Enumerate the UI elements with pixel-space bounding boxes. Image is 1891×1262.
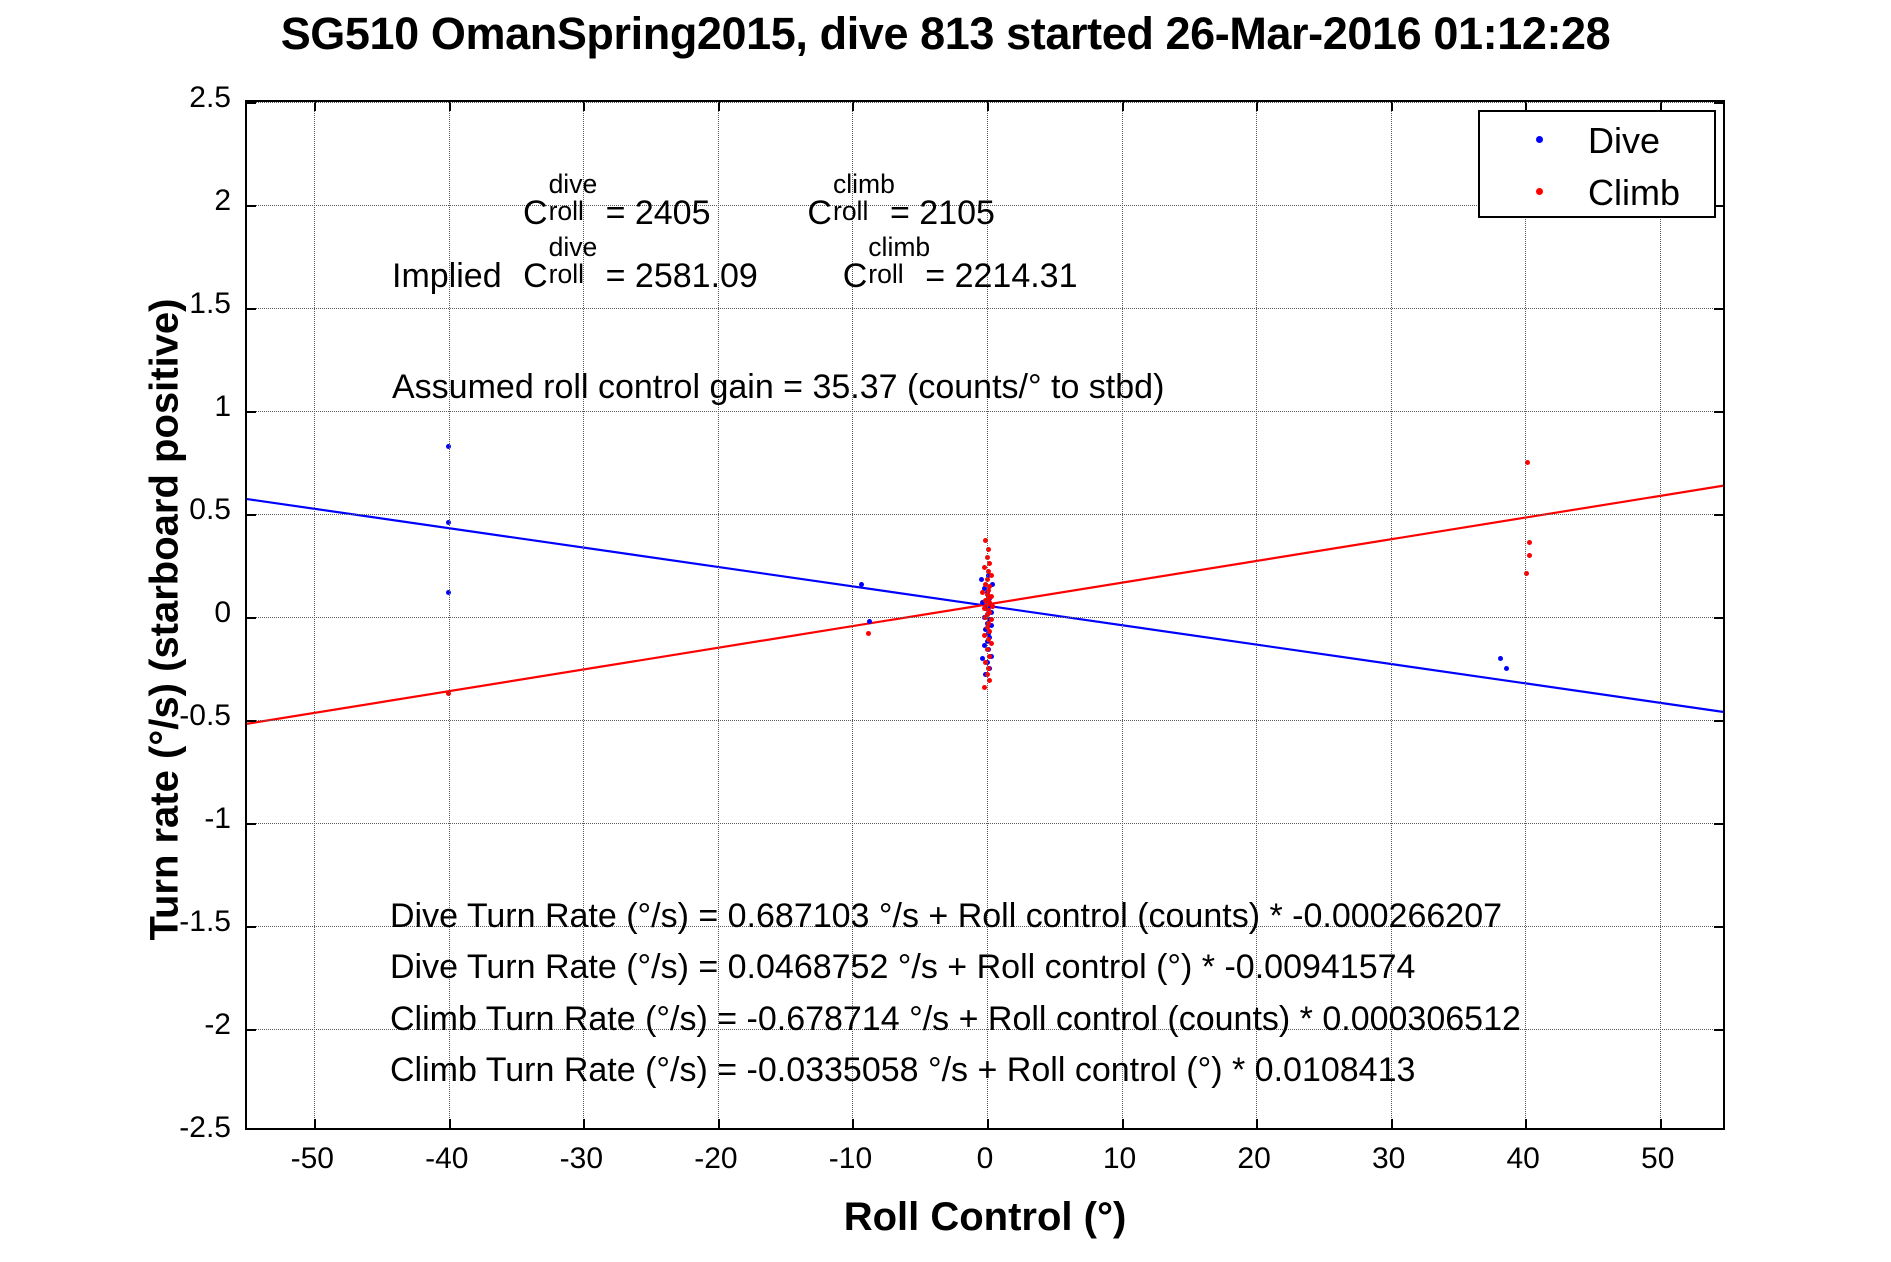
implied-climb-subscript: roll bbox=[868, 261, 903, 288]
y-tick bbox=[247, 514, 256, 516]
matlab-figure: SG510 OmanSpring2015, dive 813 started 2… bbox=[0, 0, 1891, 1262]
y-tick-right bbox=[1714, 514, 1723, 516]
c-climb-superscript: climb bbox=[833, 171, 895, 198]
page-title: SG510 OmanSpring2015, dive 813 started 2… bbox=[0, 8, 1891, 60]
y-tick-right bbox=[1714, 926, 1723, 928]
y-tick bbox=[247, 205, 256, 207]
x-tick bbox=[718, 1119, 720, 1128]
data-point-dive bbox=[1504, 666, 1509, 671]
legend-item-dive[interactable]: Dive bbox=[1480, 112, 1718, 166]
legend-label-climb: Climb bbox=[1588, 172, 1680, 214]
x-tick-top bbox=[987, 102, 989, 111]
implied-dive-subscript: roll bbox=[549, 261, 584, 288]
x-tick-label: -40 bbox=[387, 1142, 507, 1176]
x-tick-top bbox=[718, 102, 720, 111]
y-tick-right bbox=[1714, 823, 1723, 825]
x-tick-label: 20 bbox=[1194, 1142, 1314, 1176]
x-tick bbox=[449, 1119, 451, 1128]
x-tick bbox=[852, 1119, 854, 1128]
y-tick bbox=[247, 823, 256, 825]
data-point-climb bbox=[989, 641, 994, 646]
y-tick-right bbox=[1714, 720, 1723, 722]
y-tick bbox=[247, 617, 256, 619]
x-tick-top bbox=[1256, 102, 1258, 111]
legend-marker-climb bbox=[1536, 188, 1543, 195]
x-tick bbox=[1525, 1119, 1527, 1128]
implied-climb-value: = 2214.31 bbox=[925, 257, 1077, 295]
y-tick-right bbox=[1714, 617, 1723, 619]
x-tick-top bbox=[449, 102, 451, 111]
implied-dive-symbol: Cdiveroll bbox=[523, 253, 548, 293]
c-dive-value: = 2405 bbox=[606, 194, 711, 232]
x-gridline bbox=[314, 102, 315, 1128]
implied-climb-superscript: climb bbox=[868, 234, 930, 261]
y-axis-label: Turn rate (°/s) (starboard positive) bbox=[143, 105, 188, 1135]
x-tick-label: 0 bbox=[925, 1142, 1045, 1176]
y-gridline bbox=[247, 514, 1723, 515]
x-tick-top bbox=[852, 102, 854, 111]
implied-climb-symbol: Cclimbroll bbox=[843, 253, 868, 293]
x-tick bbox=[1256, 1119, 1258, 1128]
x-tick-label: -50 bbox=[252, 1142, 372, 1176]
x-tick-label: 40 bbox=[1463, 1142, 1583, 1176]
implied-dive-superscript: dive bbox=[549, 234, 598, 261]
x-tick bbox=[1122, 1119, 1124, 1128]
legend-label-dive: Dive bbox=[1588, 120, 1660, 162]
x-tick-top bbox=[1391, 102, 1393, 111]
equation-climb-counts: Climb Turn Rate (°/s) = -0.678714 °/s + … bbox=[390, 1002, 1521, 1036]
x-tick bbox=[1660, 1119, 1662, 1128]
c-dive-symbol: Cdiveroll bbox=[523, 190, 548, 230]
annotation-c-roll-setpoints: Cdiveroll= 2405 Cclimbroll= 2105 bbox=[523, 190, 995, 230]
x-axis-label: Roll Control (°) bbox=[245, 1195, 1725, 1240]
x-tick-top bbox=[583, 102, 585, 111]
x-tick-top bbox=[314, 102, 316, 111]
legend: Dive Climb bbox=[1478, 110, 1716, 218]
y-gridline bbox=[247, 102, 1723, 103]
y-gridline bbox=[247, 720, 1723, 721]
y-tick-right bbox=[1714, 1029, 1723, 1031]
x-tick-label: -30 bbox=[521, 1142, 641, 1176]
x-tick bbox=[987, 1119, 989, 1128]
x-tick-top bbox=[1122, 102, 1124, 111]
implied-prefix: Implied bbox=[392, 257, 502, 295]
x-tick bbox=[1391, 1119, 1393, 1128]
equation-climb-degrees: Climb Turn Rate (°/s) = -0.0335058 °/s +… bbox=[390, 1053, 1415, 1087]
legend-marker-dive bbox=[1536, 136, 1543, 143]
x-tick bbox=[583, 1119, 585, 1128]
y-tick bbox=[247, 411, 256, 413]
y-gridline bbox=[247, 411, 1723, 412]
data-point-climb bbox=[1527, 553, 1532, 558]
y-tick bbox=[247, 720, 256, 722]
x-tick-label: 50 bbox=[1598, 1142, 1718, 1176]
x-tick-label: -10 bbox=[790, 1142, 910, 1176]
y-gridline bbox=[247, 617, 1723, 618]
y-gridline bbox=[247, 823, 1723, 824]
y-tick-right bbox=[1714, 102, 1723, 104]
y-tick bbox=[247, 102, 256, 104]
x-gridline bbox=[1660, 102, 1661, 1128]
implied-dive-value: = 2581.09 bbox=[606, 257, 758, 295]
x-tick-label: 10 bbox=[1060, 1142, 1180, 1176]
x-gridline bbox=[1525, 102, 1526, 1128]
y-tick-right bbox=[1714, 411, 1723, 413]
x-tick-label: 30 bbox=[1329, 1142, 1449, 1176]
y-gridline bbox=[247, 308, 1723, 309]
equation-dive-degrees: Dive Turn Rate (°/s) = 0.0468752 °/s + R… bbox=[390, 950, 1415, 984]
annotation-implied-c-roll: Implied Cdiveroll= 2581.09 Cclimbroll= 2… bbox=[392, 253, 1078, 293]
x-tick-label: -20 bbox=[656, 1142, 776, 1176]
c-climb-symbol: Cclimbroll bbox=[807, 190, 832, 230]
y-tick bbox=[247, 308, 256, 310]
c-dive-subscript: roll bbox=[549, 198, 584, 225]
annotation-roll-control-gain: Assumed roll control gain = 35.37 (count… bbox=[392, 370, 1164, 404]
y-tick-right bbox=[1714, 308, 1723, 310]
equation-dive-counts: Dive Turn Rate (°/s) = 0.687103 °/s + Ro… bbox=[390, 899, 1502, 933]
data-point-dive bbox=[859, 582, 864, 587]
c-climb-value: = 2105 bbox=[890, 194, 995, 232]
x-tick bbox=[314, 1119, 316, 1128]
c-dive-superscript: dive bbox=[549, 171, 598, 198]
y-tick bbox=[247, 926, 256, 928]
legend-item-climb[interactable]: Climb bbox=[1480, 164, 1718, 218]
c-climb-subscript: roll bbox=[833, 198, 868, 225]
y-tick bbox=[247, 1029, 256, 1031]
